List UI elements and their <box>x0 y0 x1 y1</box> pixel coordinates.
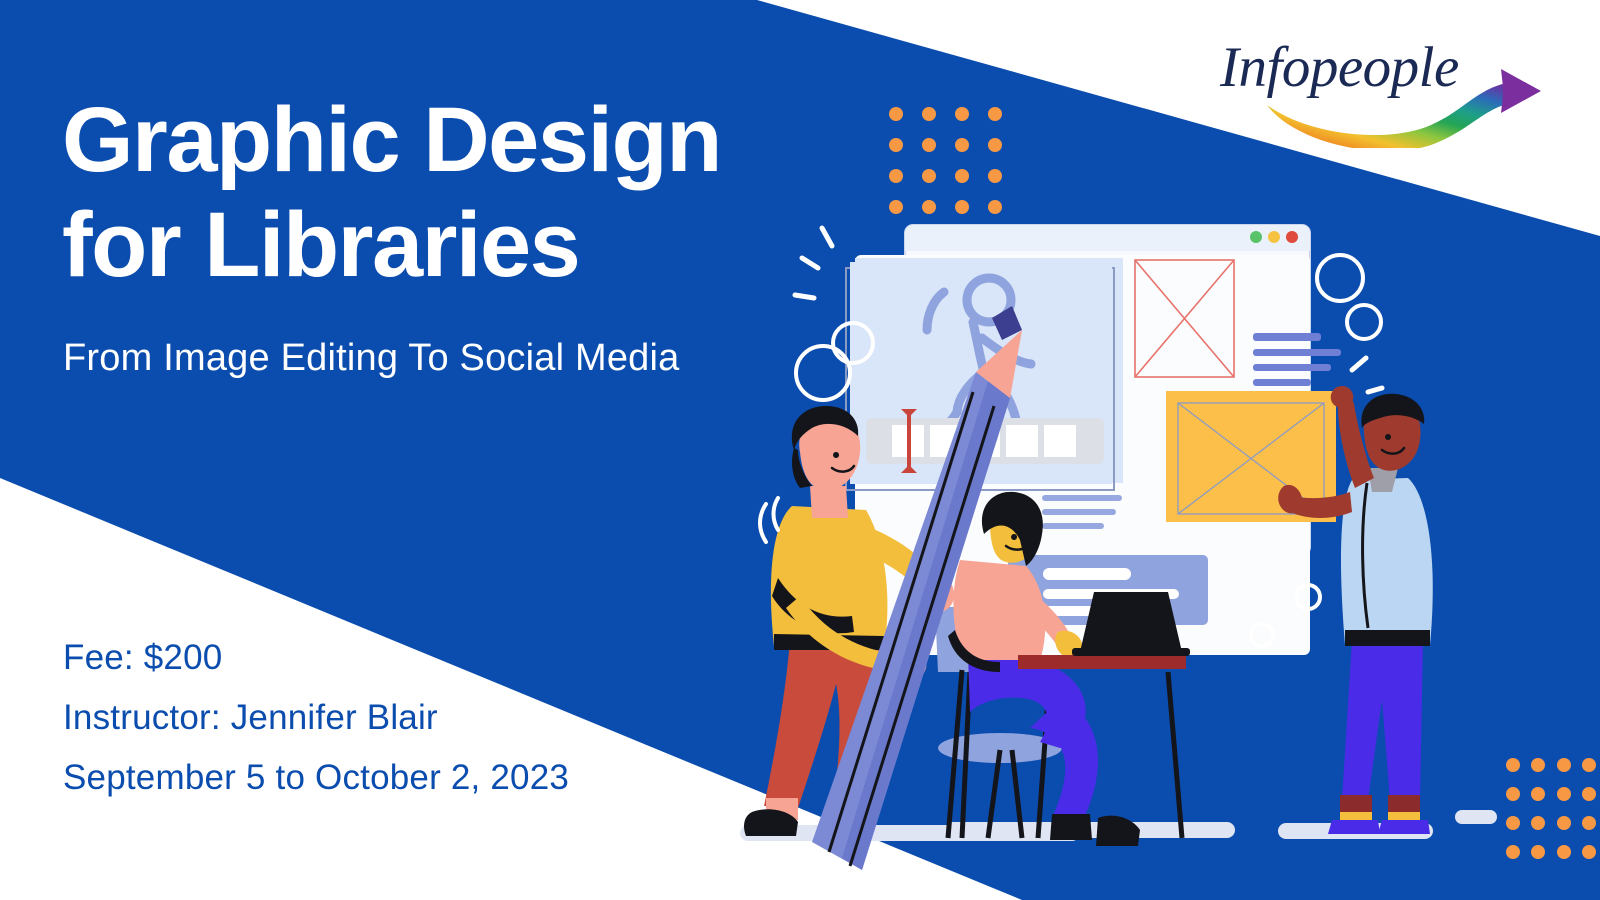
detail-fee: Fee: $200 <box>63 628 763 688</box>
dot-grid-bottom <box>1506 758 1596 859</box>
detail-dates: September 5 to October 2, 2023 <box>63 748 763 808</box>
dot-grid-top <box>889 107 1002 214</box>
page-subtitle: From Image Editing To Social Media <box>63 330 723 387</box>
course-details: Fee: $200 Instructor: Jennifer Blair Sep… <box>63 628 763 809</box>
logo-arrow-head <box>1501 69 1541 113</box>
title-line-1: Graphic Design <box>62 88 902 193</box>
logo-wordmark: Infopeople <box>1220 35 1459 100</box>
page-title: Graphic Design for Libraries <box>62 88 902 298</box>
infopeople-logo[interactable]: Infopeople <box>1215 33 1560 148</box>
promo-banner: Graphic Design for Libraries From Image … <box>0 0 1600 900</box>
detail-instructor: Instructor: Jennifer Blair <box>63 688 763 748</box>
title-line-2: for Libraries <box>62 193 902 298</box>
